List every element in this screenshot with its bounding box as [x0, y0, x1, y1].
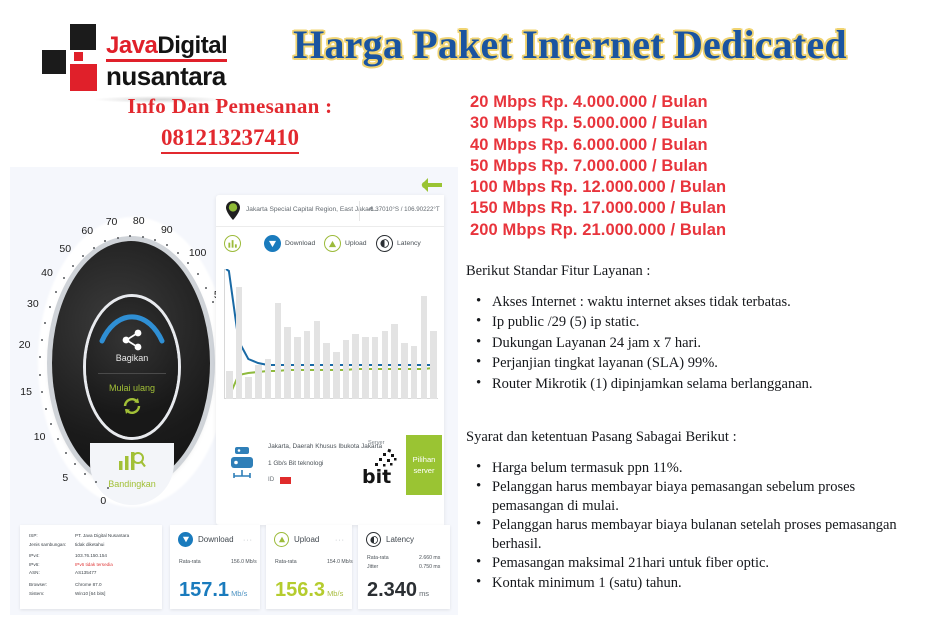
server-row: Jakarta, Daerah Khusus Ibukota Jakarta 1… [216, 433, 444, 497]
gauge-tick-label: 40 [41, 267, 53, 279]
svg-text:bit: bit [362, 466, 391, 487]
result-latency-jitter: Jitter0.750 ms [367, 564, 458, 570]
gauge-restart-label[interactable]: Mulai ulang [86, 383, 178, 393]
chart-bar [265, 359, 272, 399]
gauge-tick-label: 15 [20, 386, 32, 398]
tab-download[interactable]: Download [264, 235, 315, 252]
chart-bar [255, 365, 262, 399]
connection-info-row: IPv6:IPv6 tidak tersedia [29, 561, 153, 570]
connection-info-value: Chrome 87.0 [75, 581, 153, 590]
company-logo: JavaDigital nusantara [34, 22, 214, 80]
list-item: Ip public /29 (5) ip static. [466, 313, 916, 332]
connection-info-value: PT. Java Digital Nusantara [75, 532, 153, 541]
contact-label: Info Dan Pemesanan : [20, 94, 440, 119]
chart-bar [294, 337, 301, 399]
server-icon [228, 445, 258, 479]
download-arrow-icon [264, 235, 281, 252]
gauge-minor-tick [205, 287, 207, 289]
price-row: 200 Mbps Rp. 21.000.000 / Bulan [470, 220, 726, 241]
list-item: Kontak minimum 1 (satu) tahun. [466, 574, 921, 593]
result-download-value: 157.1Mb/s [179, 579, 247, 602]
logo-text-digital: Digital [157, 32, 227, 59]
poster-header: JavaDigital nusantara Harga Paket Intern… [0, 0, 930, 160]
gauge-minor-tick [107, 487, 109, 489]
chart-bar [352, 334, 359, 399]
logo-square-red [70, 64, 97, 91]
gauge-divider [98, 373, 166, 374]
contact-phone[interactable]: 081213237410 [161, 125, 299, 154]
list-item: Pelanggan harus membayar biaya bulanan s… [466, 516, 921, 553]
connection-info-value: IPv6 tidak tersedia [75, 561, 153, 570]
connection-info-key: Sistem: [29, 590, 75, 599]
gauge-minor-tick [49, 306, 51, 308]
upload-arrow-icon [274, 532, 289, 547]
connection-info-key: Browser: [29, 581, 75, 590]
chart-bar [401, 343, 408, 399]
page-title: Harga Paket Internet Dedicated [240, 24, 900, 66]
connection-info-value: tidak diketahui [75, 541, 153, 550]
gauge-tick-label: 60 [81, 225, 93, 237]
gauge-minor-tick [65, 452, 67, 454]
chart-bar [430, 331, 437, 399]
gauge-minor-tick [154, 239, 156, 241]
result-card-download: Download ··· Rata-rata156.0 Mb/s 157.1Mb… [170, 525, 260, 609]
chart-bar [304, 331, 311, 399]
chart-bar [382, 331, 389, 399]
chart-bar [275, 303, 282, 399]
connection-info-value: 103.76.150.154 [75, 552, 153, 561]
choose-server-line2: server [413, 465, 434, 476]
tab-latency-label: Latency [397, 240, 421, 247]
wrench-icon[interactable] [418, 176, 444, 194]
share-icon[interactable] [119, 329, 145, 351]
upload-arrow-icon [324, 235, 341, 252]
chart-bar [391, 324, 398, 399]
gauge-tick-label: 30 [27, 298, 39, 310]
list-item: Pemasangan maksimal 21hari untuk fiber o… [466, 554, 921, 573]
result-download-title: Download [198, 535, 234, 544]
price-row: 150 Mbps Rp. 17.000.000 / Bulan [470, 198, 726, 219]
list-item: Pelanggan harus membayar biaya pemasanga… [466, 478, 921, 515]
connection-info-key: IPv4: [29, 552, 75, 561]
connection-info-row: Jenis sambungan:tidak diketahui [29, 541, 153, 550]
chart-bar [333, 352, 340, 399]
gauge-tick-label: 70 [106, 216, 118, 228]
speed-gauge: Bagikan Mulai ulang Bandingkan 051015203… [16, 197, 238, 527]
connection-info-key: Jenis sambungan: [29, 541, 75, 550]
price-row: 30 Mbps Rp. 5.000.000 / Bulan [470, 113, 726, 134]
speedtest-screenshot: Bagikan Mulai ulang Bandingkan 051015203… [10, 167, 458, 615]
result-upload-header: Upload [274, 532, 319, 547]
location-row: Jakarta Special Capital Region, East Jak… [216, 195, 444, 227]
gauge-minor-tick [44, 322, 46, 324]
choose-server-line1: Pilihan [413, 454, 436, 465]
poster-page: JavaDigital nusantara Harga Paket Intern… [0, 0, 930, 620]
server-word-label: Server [368, 440, 384, 446]
gauge-tick-label: 10 [34, 431, 46, 443]
result-download-average: Rata-rata156.0 Mb/s [179, 559, 269, 565]
speed-chart [224, 269, 438, 399]
connection-info-row: Browser:Chrome 87.0 [29, 581, 153, 590]
chart-bar [314, 321, 321, 399]
connection-info-value: Win10 [64 bits] [75, 590, 153, 599]
location-divider [359, 201, 360, 221]
result-upload-value: 156.3Mb/s [275, 579, 343, 602]
gauge-minor-tick [93, 247, 95, 249]
result-upload-average: Rata-rata154.0 Mb/s [275, 559, 361, 565]
list-item: Router Mikrotik (1) dipinjamkan selama b… [466, 375, 916, 394]
connection-info-row: ISP:PT. Java Digital Nusantara [29, 532, 153, 541]
metric-tabs: Download Upload Latency [216, 229, 444, 265]
gauge-compare-label[interactable]: Bandingkan [86, 479, 178, 489]
result-card-latency: Latency Rata-rata2.660 ms Jitter0.750 ms… [358, 525, 450, 609]
gauge-tick-label: 100 [189, 247, 207, 259]
logo-text-nusantara: nusantara [106, 63, 227, 89]
speedtest-result-card: Jakarta Special Capital Region, East Jak… [216, 195, 444, 525]
list-item: Akses Internet : waktu internet akses ti… [466, 293, 916, 312]
latency-icon [366, 532, 381, 547]
list-item: Harga belum termasuk ppn 11%. [466, 459, 921, 478]
gauge-tick-label: 50 [59, 243, 71, 255]
location-coordinates: -6.37010°S / 106.90222°T [368, 206, 440, 213]
list-item: Perjanjian tingkat layanan (SLA) 99%. [466, 354, 916, 373]
server-id-label: ID [268, 476, 274, 483]
chart-bar [226, 371, 233, 399]
chart-bar [323, 343, 330, 399]
result-upload-menu[interactable]: ··· [335, 537, 345, 544]
choose-server-button[interactable]: Pilihan server [406, 435, 442, 495]
features-list: Akses Internet : waktu internet akses ti… [466, 293, 916, 394]
chart-bar [421, 296, 428, 399]
tab-upload-label: Upload [345, 240, 367, 247]
latency-icon [376, 235, 393, 252]
result-latency-title: Latency [386, 535, 414, 544]
price-list: 20 Mbps Rp. 4.000.000 / Bulan30 Mbps Rp.… [470, 92, 726, 241]
list-item: Dukungan Layanan 24 jam x 7 hari. [466, 334, 916, 353]
gauge-minor-tick [41, 339, 43, 341]
gauge-tick-label: 80 [133, 215, 145, 227]
tab-upload[interactable]: Upload [324, 235, 367, 252]
price-row: 20 Mbps Rp. 4.000.000 / Bulan [470, 92, 726, 113]
gauge-minor-tick [45, 408, 47, 410]
gauge-minor-tick [55, 291, 57, 293]
price-row: 50 Mbps Rp. 7.000.000 / Bulan [470, 156, 726, 177]
server-tech: 1 Gb/s Bit teknologi [268, 460, 323, 467]
tab-latency[interactable]: Latency [376, 235, 421, 252]
gauge-tick-label: 5 [62, 472, 68, 484]
chart-bar [411, 346, 418, 399]
gauge-tick-label: 0 [100, 495, 106, 507]
result-latency-header: Latency [366, 532, 414, 547]
gauge-minor-tick [57, 438, 59, 440]
chart-bar [362, 337, 369, 399]
result-latency-average: Rata-rata2.660 ms [367, 555, 458, 561]
logo-square-black-large [70, 24, 96, 50]
tab-download-label: Download [285, 240, 315, 247]
contact-block: Info Dan Pemesanan : 081213237410 [20, 94, 440, 154]
result-upload-title: Upload [294, 535, 319, 544]
connection-info-key: IPv6: [29, 561, 75, 570]
logo-wordmark: JavaDigital nusantara [106, 34, 227, 89]
logo-square-black-small [42, 50, 66, 74]
result-latency-value: 2.340ms [367, 579, 429, 602]
price-row: 40 Mbps Rp. 6.000.000 / Bulan [470, 135, 726, 156]
connection-info-row: Sistem:Win10 [64 bits] [29, 590, 153, 599]
logo-text-java: Java [106, 32, 157, 59]
connection-info-value: AS135477 [75, 569, 153, 578]
chart-bar [372, 337, 379, 399]
bit-logo-icon: bit [358, 447, 404, 487]
download-arrow-icon [178, 532, 193, 547]
connection-info-row: ASN:AS135477 [29, 569, 153, 578]
connection-info-key: ISP: [29, 532, 75, 541]
features-heading: Berikut Standar Fitur Layanan : [466, 262, 916, 281]
bar-chart-icon [224, 235, 241, 252]
terms-list: Harga belum termasuk ppn 11%.Pelanggan h… [466, 459, 921, 593]
result-download-header: Download [178, 532, 234, 547]
gauge-minor-tick [82, 255, 84, 257]
tab-graph[interactable] [224, 235, 241, 252]
gauge-minor-tick [142, 236, 144, 238]
result-download-menu[interactable]: ··· [243, 537, 253, 544]
chart-bar [245, 377, 252, 399]
chart-bar [284, 327, 291, 399]
chart-bar [343, 340, 350, 399]
gauge-minor-tick [72, 265, 74, 267]
price-row: 100 Mbps Rp. 12.000.000 / Bulan [470, 177, 726, 198]
gauge-tick-label: 90 [161, 224, 173, 236]
terms-section: Syarat dan ketentuan Pasang Sabagai Beri… [466, 428, 921, 593]
restart-icon[interactable] [120, 395, 144, 417]
features-section: Berikut Standar Fitur Layanan : Akses In… [466, 262, 916, 395]
connection-info-key: ASN: [29, 569, 75, 578]
connection-info-panel: ISP:PT. Java Digital NusantaraJenis samb… [20, 525, 162, 609]
gauge-tick-label: 20 [19, 339, 31, 351]
gauge-minor-tick [117, 237, 119, 239]
logo-square-red-tiny [74, 52, 83, 61]
server-flag-icon [280, 477, 291, 484]
terms-heading: Syarat dan ketentuan Pasang Sabagai Beri… [466, 428, 921, 447]
map-pin-icon [226, 201, 240, 220]
result-card-upload: Upload ··· Rata-rata154.0 Mb/s 156.3Mb/s [266, 525, 352, 609]
compare-icon[interactable] [116, 447, 146, 473]
chart-bar [236, 287, 243, 399]
gauge-share-label[interactable]: Bagikan [86, 353, 178, 363]
connection-info-row: IPv4:103.76.150.154 [29, 552, 153, 561]
